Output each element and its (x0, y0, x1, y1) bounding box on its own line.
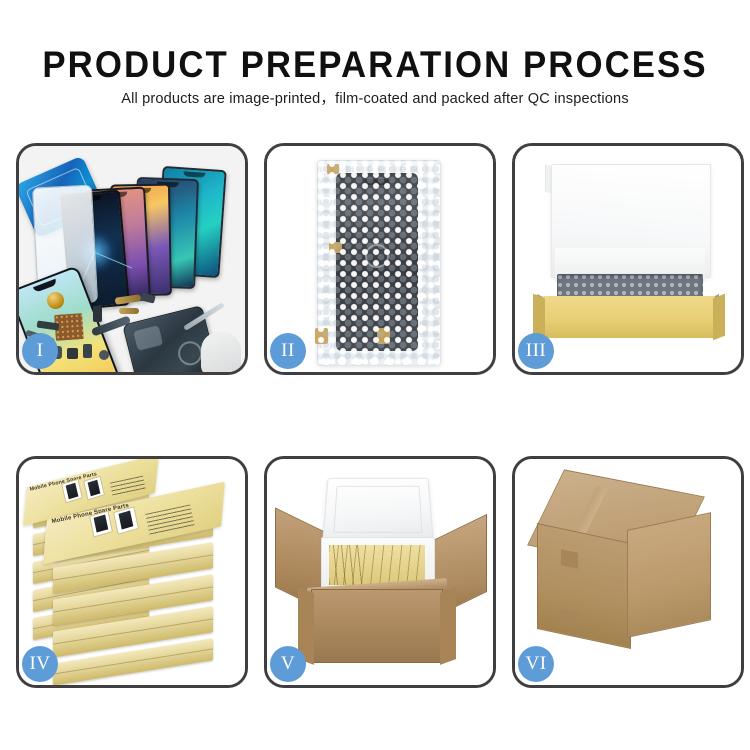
small-part-icon (67, 348, 78, 359)
small-part-icon (119, 308, 139, 314)
process-step-panel-2: II (264, 143, 496, 375)
process-step-panel-4: Mobile Phone Spare Parts Mobile Phone Sp… (16, 456, 248, 688)
step-badge-2: II (270, 333, 306, 369)
carton-body-icon (311, 589, 443, 663)
foam-cooler-lid-icon (322, 478, 434, 544)
carton-side-face-icon (627, 512, 711, 638)
step-badge-6: VI (518, 646, 554, 682)
carton-tab-icon (561, 609, 578, 629)
carton-tab-icon (561, 549, 578, 569)
process-step-panel-3: III (512, 143, 744, 375)
small-part-icon (93, 306, 102, 322)
small-part-icon (83, 344, 92, 358)
step-badge-4: IV (22, 646, 58, 682)
step-badge-3: III (518, 333, 554, 369)
small-part-icon (99, 350, 109, 360)
yellow-box-body-icon (543, 296, 715, 338)
process-step-grid: I II (0, 0, 750, 750)
process-step-panel-5: V (264, 456, 496, 688)
infographic-page: PRODUCT PREPARATION PROCESS All products… (0, 0, 750, 750)
hand-icon (201, 332, 241, 372)
gold-component-icon (47, 292, 64, 309)
step-badge-5: V (270, 646, 306, 682)
bubble-texture-overlay (317, 160, 439, 364)
step-badge-1: I (22, 333, 58, 369)
process-step-panel-1: I (16, 143, 248, 375)
carton-front-face-icon (537, 523, 631, 649)
process-step-panel-6: VI (512, 456, 744, 688)
notch-icon (183, 171, 205, 178)
packed-yellow-boxes-icon (329, 545, 425, 585)
